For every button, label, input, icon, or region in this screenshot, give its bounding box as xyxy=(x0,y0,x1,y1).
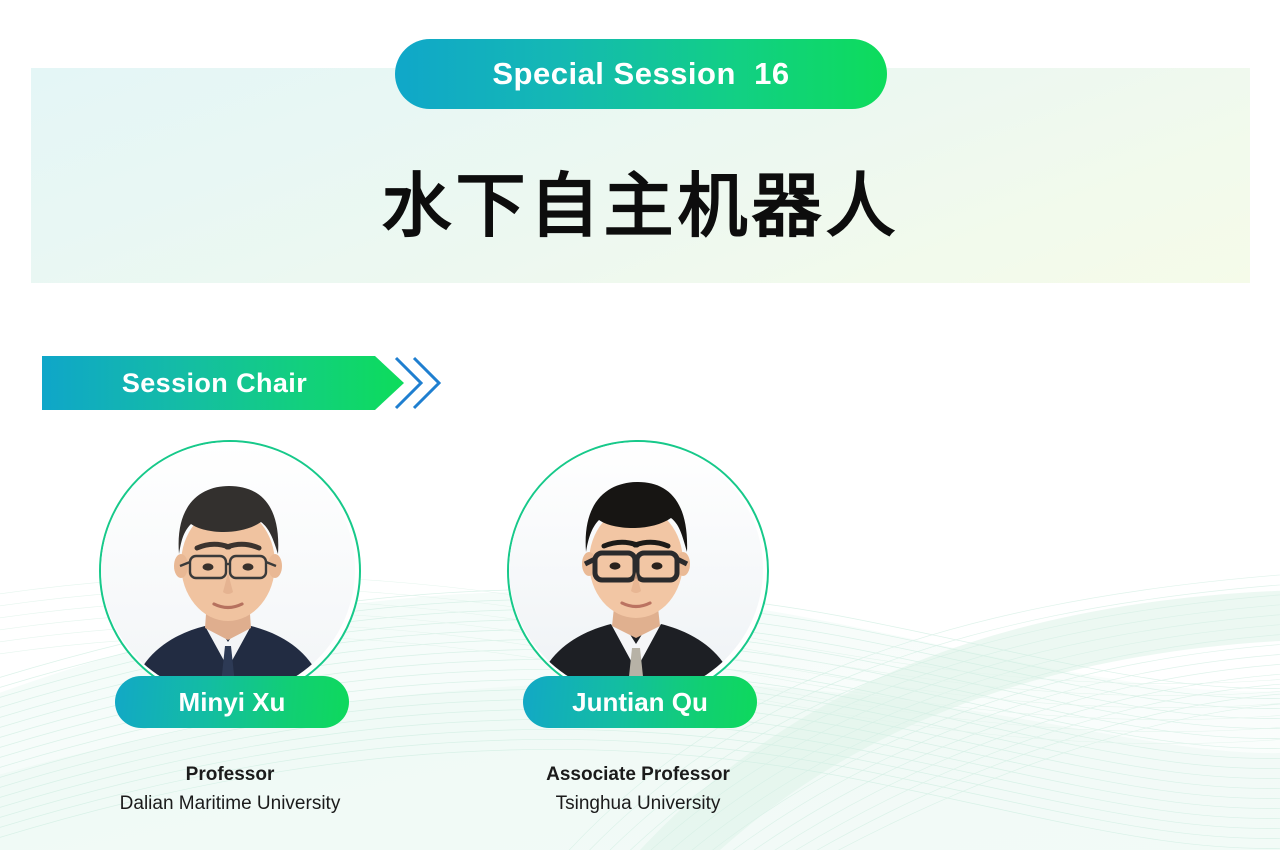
avatar: Juntian Qu xyxy=(507,440,769,702)
session-chair-banner: Session Chair xyxy=(42,356,442,410)
avatar-ring xyxy=(507,440,769,702)
speaker-affiliation: Dalian Maritime University xyxy=(80,789,380,819)
speaker-affiliation: Tsinghua University xyxy=(488,789,788,819)
speaker-name-badge: Minyi Xu xyxy=(115,676,349,728)
speaker-name: Juntian Qu xyxy=(572,687,708,718)
speaker-name: Minyi Xu xyxy=(179,687,286,718)
speaker-title: Professor xyxy=(80,760,380,789)
speaker-card: Juntian Qu Associate Professor Tsinghua … xyxy=(488,440,788,819)
speaker-meta: Professor Dalian Maritime University xyxy=(80,760,380,819)
avatar: Minyi Xu xyxy=(99,440,361,702)
portrait-minyi-xu-icon xyxy=(101,442,355,696)
special-session-badge-label: Special Session 16 xyxy=(492,56,789,92)
page-title: 水下自主机器人 xyxy=(31,150,1250,251)
speaker-meta: Associate Professor Tsinghua University xyxy=(488,760,788,819)
portrait-juntian-qu-icon xyxy=(509,442,763,696)
session-chair-label: Session Chair xyxy=(42,356,397,410)
speaker-name-badge: Juntian Qu xyxy=(523,676,757,728)
avatar-ring xyxy=(99,440,361,702)
speaker-title: Associate Professor xyxy=(488,760,788,789)
speaker-card: Minyi Xu Professor Dalian Maritime Unive… xyxy=(80,440,380,819)
special-session-badge: Special Session 16 xyxy=(395,39,887,109)
